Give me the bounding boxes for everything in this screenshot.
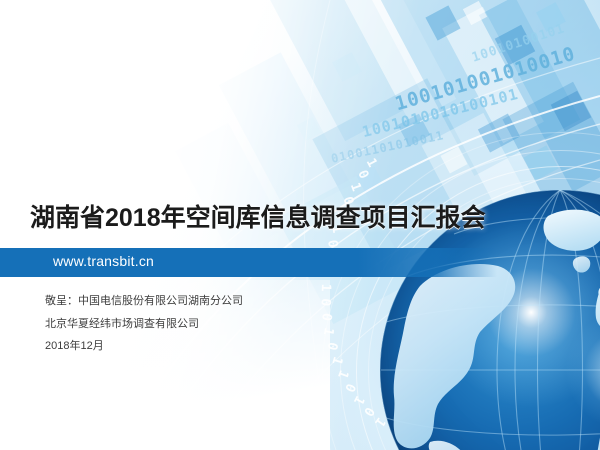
credit-line-date: 2018年12月 (45, 335, 243, 358)
credit-line-company: 北京华夏经纬市场调查有限公司 (45, 313, 243, 336)
website-url[interactable]: www.transbit.cn (53, 253, 154, 269)
credits-block: 敬呈：中国电信股份有限公司湖南分公司 北京华夏经纬市场调查有限公司 2018年1… (45, 290, 243, 358)
credit-line-recipient: 敬呈：中国电信股份有限公司湖南分公司 (45, 290, 243, 313)
page-title: 湖南省2018年空间库信息调查项目汇报会 (30, 198, 486, 234)
presentation-title-slide: 100101001010010 1001010010100101 1001010… (0, 0, 600, 450)
